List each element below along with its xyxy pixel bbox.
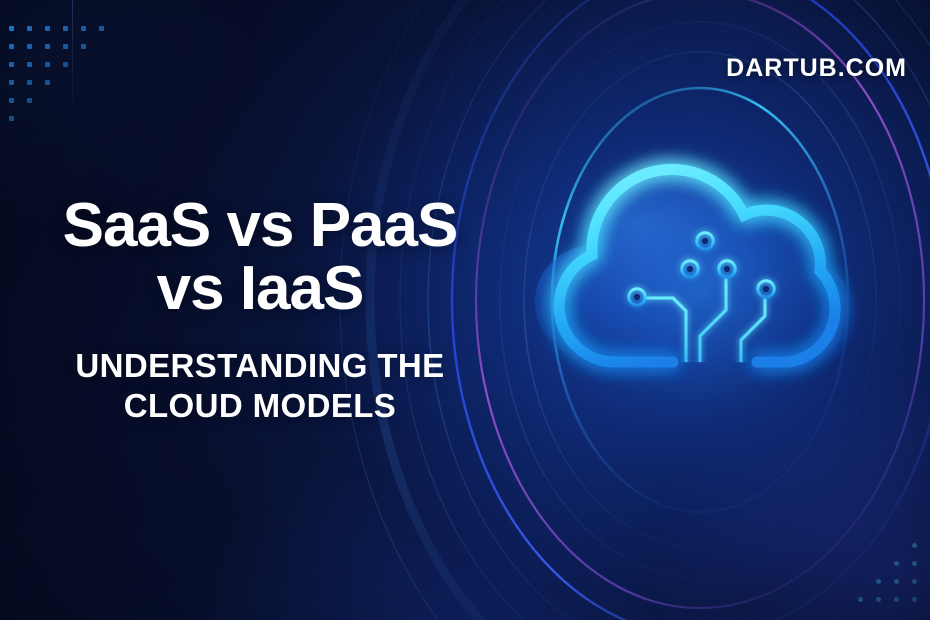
page-title: SaaS vs PaaS vs IaaS (63, 194, 458, 320)
title-block: SaaS vs PaaS vs IaaS UNDERSTANDING THE C… (0, 0, 520, 620)
page-subtitle-line-2: CLOUD MODELS (124, 387, 396, 424)
page-title-line-1: SaaS vs PaaS (63, 191, 458, 260)
page-title-line-2: vs IaaS (157, 254, 364, 323)
page-subtitle: UNDERSTANDING THE CLOUD MODELS (75, 346, 444, 427)
watermark-brand: DARTUB.COM (726, 54, 907, 83)
banner-canvas: SaaS vs PaaS vs IaaS UNDERSTANDING THE C… (0, 0, 930, 620)
page-subtitle-line-1: UNDERSTANDING THE (75, 347, 444, 384)
